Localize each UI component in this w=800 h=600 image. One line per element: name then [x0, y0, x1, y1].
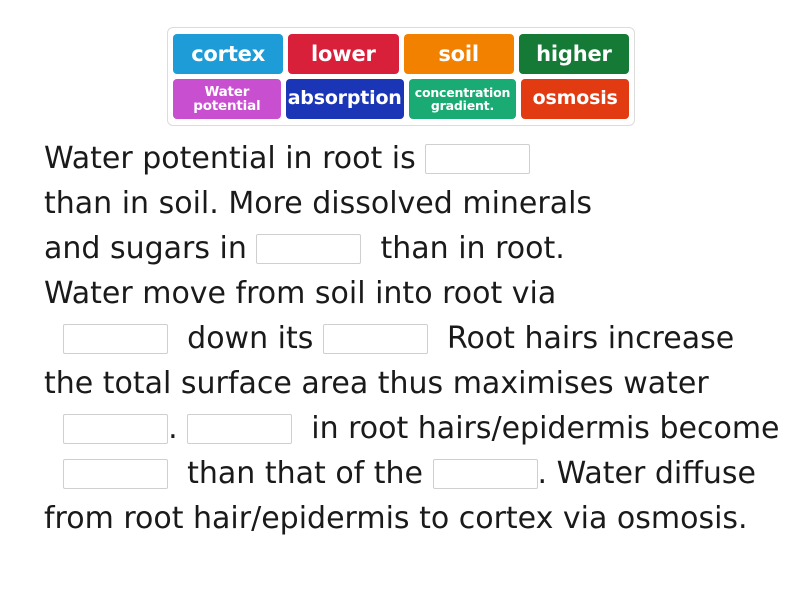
- cloze-activity-page: { "word_bank": { "rows": [ [ { "label": …: [0, 0, 800, 600]
- cloze-text-segment: Water move from soil into root via: [44, 271, 556, 316]
- cloze-text-segment: down its: [168, 316, 323, 361]
- cloze-line: Water potential in root is: [44, 136, 774, 181]
- answer-blank[interactable]: [63, 324, 168, 354]
- cloze-paragraph: Water potential in root is than in soil.…: [44, 136, 774, 541]
- cloze-text-segment: and sugars in: [44, 226, 256, 271]
- cloze-text-segment: from root hair/epidermis to cortex via o…: [44, 496, 748, 541]
- word-bank-row-1: cortexlowersoilhigher: [173, 34, 629, 74]
- cloze-text-segment: .: [168, 406, 187, 451]
- cloze-line: Water move from soil into root via: [44, 271, 774, 316]
- word-tile-osmosis[interactable]: osmosis: [521, 79, 629, 119]
- cloze-text-segment: Root hairs increase: [428, 316, 734, 361]
- cloze-line: . in root hairs/epidermis become: [44, 406, 774, 451]
- answer-blank[interactable]: [323, 324, 428, 354]
- word-bank-panel: cortexlowersoilhigher Water potentialabs…: [167, 27, 635, 126]
- cloze-text-segment: [44, 316, 63, 361]
- word-tile-higher[interactable]: higher: [519, 34, 629, 74]
- word-tile-absorption[interactable]: absorption: [286, 79, 404, 119]
- answer-blank[interactable]: [425, 144, 530, 174]
- cloze-text-segment: than in soil. More dissolved minerals: [44, 181, 592, 226]
- word-tile-cortex[interactable]: cortex: [173, 34, 283, 74]
- cloze-line: down its Root hairs increase: [44, 316, 774, 361]
- word-tile-water-potential[interactable]: Water potential: [173, 79, 281, 119]
- cloze-text-segment: . Water diffuse: [538, 451, 756, 496]
- cloze-text-segment: in root hairs/epidermis become: [292, 406, 779, 451]
- answer-blank[interactable]: [187, 414, 292, 444]
- cloze-text-segment: [44, 406, 63, 451]
- word-tile-concentration-gradient[interactable]: concentration gradient.: [409, 79, 517, 119]
- cloze-text-segment: the total surface area thus maximises wa…: [44, 361, 709, 406]
- cloze-line: the total surface area thus maximises wa…: [44, 361, 774, 406]
- cloze-text-segment: than in root.: [361, 226, 564, 271]
- cloze-line: than in soil. More dissolved minerals: [44, 181, 774, 226]
- cloze-line: from root hair/epidermis to cortex via o…: [44, 496, 774, 541]
- answer-blank[interactable]: [63, 459, 168, 489]
- answer-blank[interactable]: [433, 459, 538, 489]
- cloze-text-segment: [44, 451, 63, 496]
- word-bank-row-2: Water potentialabsorptionconcentration g…: [173, 79, 629, 119]
- word-tile-lower[interactable]: lower: [288, 34, 398, 74]
- word-tile-soil[interactable]: soil: [404, 34, 514, 74]
- answer-blank[interactable]: [63, 414, 168, 444]
- cloze-text-segment: than that of the: [168, 451, 432, 496]
- cloze-text-segment: Water potential in root is: [44, 136, 425, 181]
- cloze-line: than that of the . Water diffuse: [44, 451, 774, 496]
- cloze-line: and sugars in than in root.: [44, 226, 774, 271]
- answer-blank[interactable]: [256, 234, 361, 264]
